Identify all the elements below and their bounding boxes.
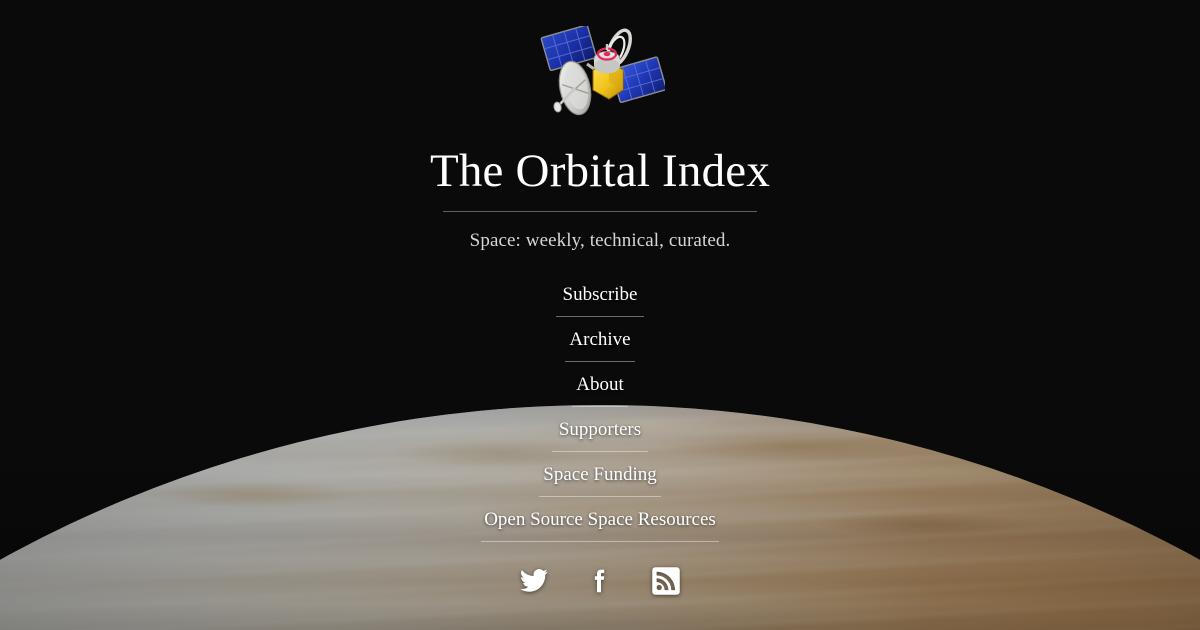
main-navigation: Subscribe Archive About Supporters Space… xyxy=(0,282,1200,542)
satellite-icon xyxy=(0,26,1200,130)
facebook-icon[interactable] xyxy=(585,566,615,596)
landing-page: The Orbital Index Space: weekly, technic… xyxy=(0,0,1200,630)
nav-link-about[interactable]: About xyxy=(574,372,626,397)
nav-item-subscribe[interactable]: Subscribe xyxy=(0,282,1200,317)
nav-item-open-source-space-resources[interactable]: Open Source Space Resources xyxy=(0,507,1200,542)
nav-item-about[interactable]: About xyxy=(0,372,1200,407)
nav-link-archive[interactable]: Archive xyxy=(567,327,632,352)
social-links xyxy=(0,566,1200,596)
nav-item-supporters[interactable]: Supporters xyxy=(0,417,1200,452)
nav-divider xyxy=(539,496,661,497)
site-tagline: Space: weekly, technical, curated. xyxy=(0,230,1200,252)
page-title: The Orbital Index xyxy=(0,148,1200,195)
nav-divider xyxy=(556,316,644,317)
nav-link-supporters[interactable]: Supporters xyxy=(557,417,643,442)
nav-divider xyxy=(481,541,719,542)
nav-divider xyxy=(572,406,628,407)
nav-link-open-source-space-resources[interactable]: Open Source Space Resources xyxy=(482,507,718,532)
rss-icon[interactable] xyxy=(651,566,681,596)
nav-link-space-funding[interactable]: Space Funding xyxy=(541,462,658,487)
nav-divider xyxy=(552,451,648,452)
page-content: The Orbital Index Space: weekly, technic… xyxy=(0,26,1200,596)
twitter-icon[interactable] xyxy=(519,566,549,596)
nav-item-space-funding[interactable]: Space Funding xyxy=(0,462,1200,497)
title-divider xyxy=(443,211,757,212)
nav-divider xyxy=(565,361,635,362)
nav-item-archive[interactable]: Archive xyxy=(0,327,1200,362)
nav-link-subscribe[interactable]: Subscribe xyxy=(561,282,640,307)
